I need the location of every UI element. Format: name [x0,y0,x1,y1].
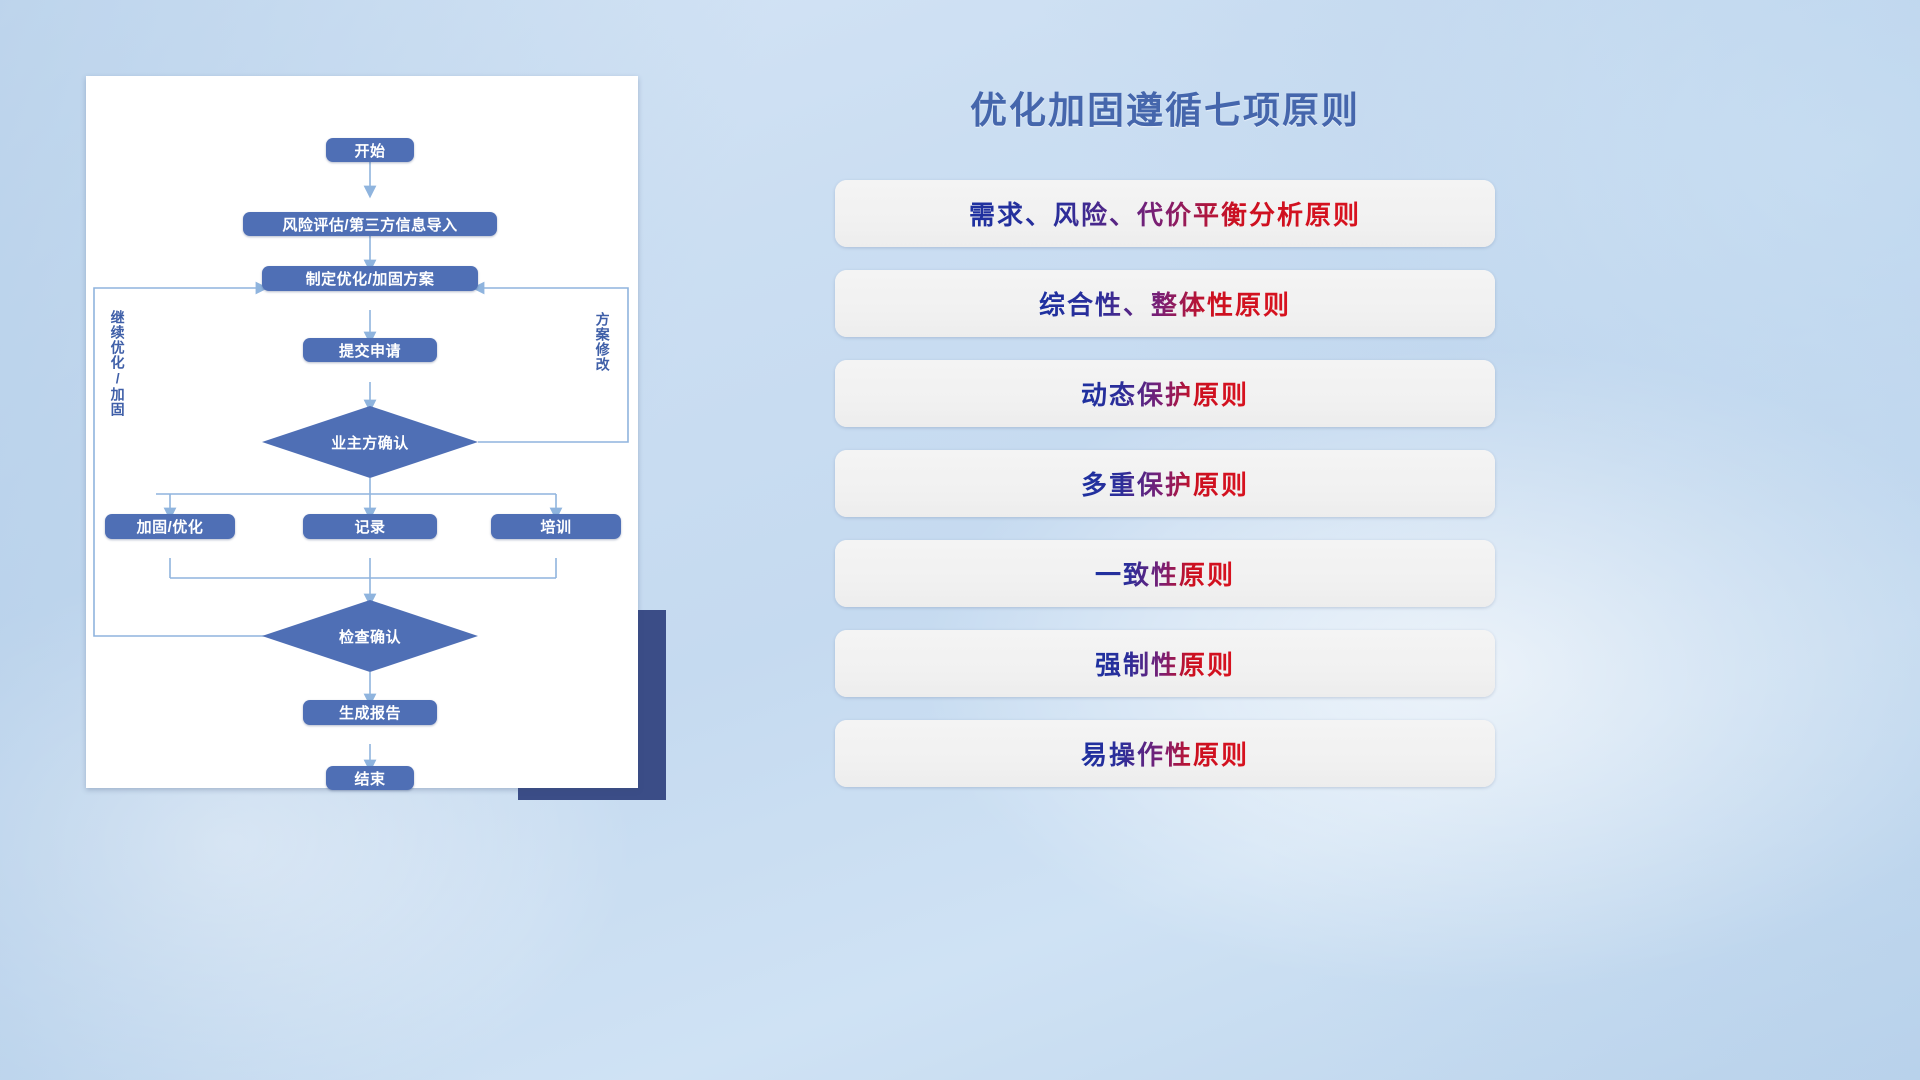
principle-label: 动态保护原则 [1081,375,1249,412]
flow-node-label: 培训 [540,516,571,537]
flow-node-label: 制定优化/加固方案 [306,268,435,289]
principle-card[interactable]: 动态保护原则 [835,360,1495,427]
principle-card[interactable]: 需求、风险、代价平衡分析原则 [835,180,1495,247]
flow-node-reinforce[interactable]: 加固/优化 [105,514,235,539]
principle-card[interactable]: 多重保护原则 [835,450,1495,517]
flowchart: 开始 风险评估/第三方信息导入 制定优化/加固方案 提交申请 业主方确认 加固/… [86,76,638,788]
flow-node-risk-assessment[interactable]: 风险评估/第三方信息导入 [243,212,497,236]
principle-card[interactable]: 综合性、整体性原则 [835,270,1495,337]
principle-card[interactable]: 易操作性原则 [835,720,1495,787]
flow-node-label: 提交申请 [339,340,401,361]
flow-node-label: 风险评估/第三方信息导入 [282,214,457,235]
principles-section: 优化加固遵循七项原则 需求、风险、代价平衡分析原则 综合性、整体性原则 动态保护… [835,80,1495,810]
flow-node-generate-report[interactable]: 生成报告 [303,700,437,725]
flow-edge-label-plan-revision: 方案修改 [594,312,610,416]
principle-label: 一致性原则 [1095,555,1235,592]
flowchart-panel: 开始 风险评估/第三方信息导入 制定优化/加固方案 提交申请 业主方确认 加固/… [86,76,638,788]
flow-edge-label-continue-optimize: 继续优化/加固 [109,310,125,440]
flow-node-record[interactable]: 记录 [303,514,437,539]
flow-node-start[interactable]: 开始 [326,138,414,162]
principle-card[interactable]: 强制性原则 [835,630,1495,697]
flow-decision-inspection-confirm[interactable]: 检查确认 [262,600,478,672]
principles-title: 优化加固遵循七项原则 [835,80,1495,134]
flow-node-plan[interactable]: 制定优化/加固方案 [262,266,478,291]
principle-card[interactable]: 一致性原则 [835,540,1495,607]
flow-node-label: 生成报告 [339,702,401,723]
flow-node-label: 结束 [354,768,385,789]
principle-label: 综合性、整体性原则 [1039,285,1291,322]
principle-label: 需求、风险、代价平衡分析原则 [969,195,1361,232]
flow-node-label: 记录 [354,516,385,537]
flow-node-label: 开始 [354,140,385,161]
principle-label: 易操作性原则 [1081,735,1249,772]
flow-decision-owner-confirm[interactable]: 业主方确认 [262,406,478,478]
principle-label: 多重保护原则 [1081,465,1249,502]
flow-node-submit-application[interactable]: 提交申请 [303,338,437,362]
flow-node-label: 加固/优化 [137,516,204,537]
flow-node-training[interactable]: 培训 [491,514,621,539]
flow-node-end[interactable]: 结束 [326,766,414,790]
principle-label: 强制性原则 [1095,645,1235,682]
